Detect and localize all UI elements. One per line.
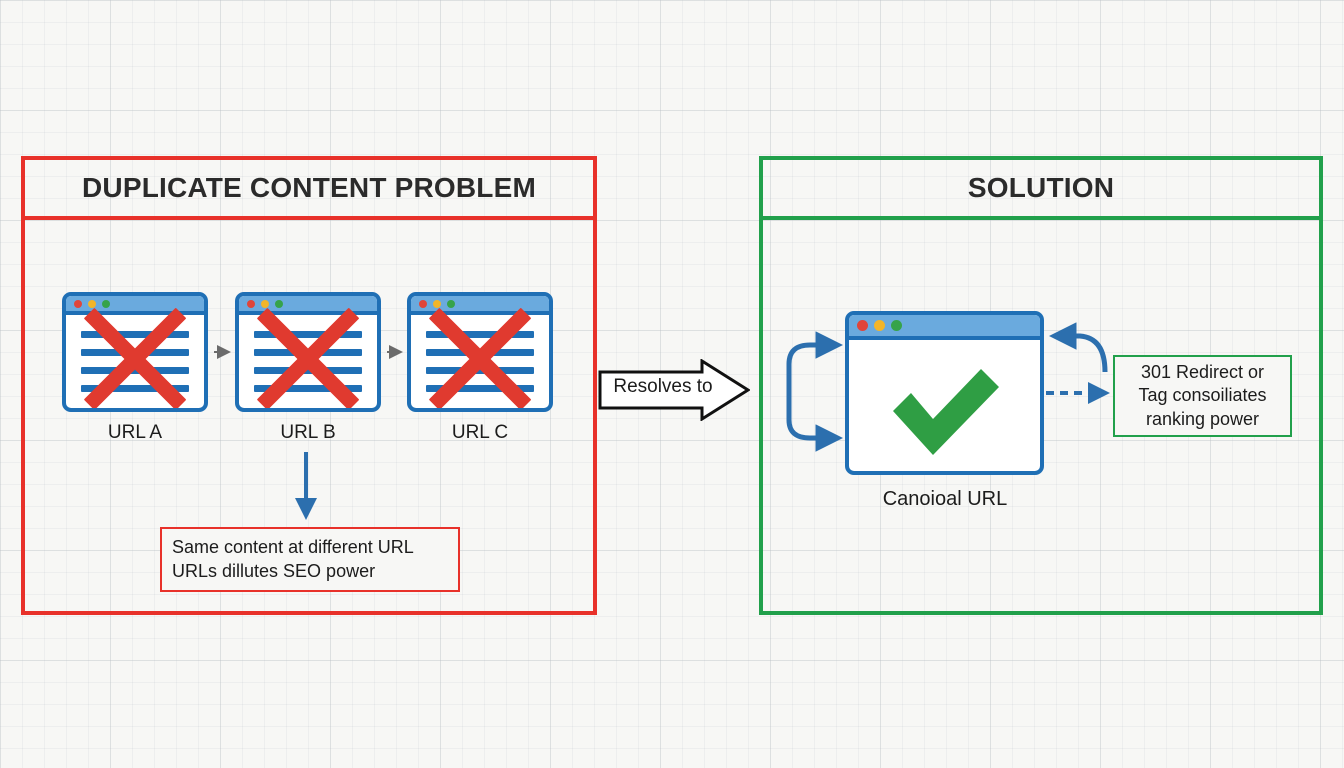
browser-body bbox=[66, 315, 204, 404]
url-c-window[interactable] bbox=[407, 292, 553, 412]
maximize-dot-icon bbox=[102, 300, 110, 308]
problem-panel-title: DUPLICATE CONTENT PROBLEM bbox=[82, 172, 536, 204]
url-a-window[interactable] bbox=[62, 292, 208, 412]
solution-note-line3: ranking power bbox=[1146, 408, 1259, 431]
minimize-dot-icon bbox=[874, 320, 885, 331]
minimize-dot-icon bbox=[261, 300, 269, 308]
resolves-to-label: Resolves to bbox=[608, 376, 718, 398]
problem-note-line1: Same content at different URL bbox=[172, 536, 458, 560]
problem-note-line2: URLs dillutes SEO power bbox=[172, 560, 458, 584]
problem-note-box: Same content at different URL URLs dillu… bbox=[160, 527, 460, 592]
url-b-label: URL B bbox=[235, 422, 381, 444]
close-dot-icon bbox=[419, 300, 427, 308]
red-x-icon bbox=[250, 320, 366, 398]
browser-body bbox=[849, 340, 1040, 473]
browser-titlebar bbox=[239, 296, 377, 315]
url-c-label: URL C bbox=[407, 422, 553, 444]
minimize-dot-icon bbox=[88, 300, 96, 308]
solution-note-line1: 301 Redirect or bbox=[1141, 361, 1264, 384]
browser-body bbox=[411, 315, 549, 404]
browser-titlebar bbox=[849, 315, 1040, 340]
canonical-url-label: Canoioal URL bbox=[810, 488, 1080, 511]
canonical-url-window[interactable] bbox=[845, 311, 1044, 475]
solution-note-line2: Tag consoiliates bbox=[1138, 384, 1266, 407]
diagram-canvas: DUPLICATE CONTENT PROBLEM URL A bbox=[0, 0, 1344, 768]
minimize-dot-icon bbox=[433, 300, 441, 308]
browser-titlebar bbox=[411, 296, 549, 315]
problem-panel-header: DUPLICATE CONTENT PROBLEM bbox=[25, 160, 593, 220]
url-a-label: URL A bbox=[62, 422, 208, 444]
close-dot-icon bbox=[247, 300, 255, 308]
maximize-dot-icon bbox=[891, 320, 902, 331]
maximize-dot-icon bbox=[447, 300, 455, 308]
url-b-window[interactable] bbox=[235, 292, 381, 412]
solution-panel-header: SOLUTION bbox=[763, 160, 1319, 220]
red-x-icon bbox=[77, 320, 193, 398]
maximize-dot-icon bbox=[275, 300, 283, 308]
solution-panel-title: SOLUTION bbox=[968, 172, 1114, 204]
solution-note-box: 301 Redirect or Tag consoiliates ranking… bbox=[1113, 355, 1292, 437]
close-dot-icon bbox=[857, 320, 868, 331]
browser-titlebar bbox=[66, 296, 204, 315]
close-dot-icon bbox=[74, 300, 82, 308]
green-check-icon bbox=[883, 361, 1007, 457]
browser-body bbox=[239, 315, 377, 404]
red-x-icon bbox=[422, 320, 538, 398]
